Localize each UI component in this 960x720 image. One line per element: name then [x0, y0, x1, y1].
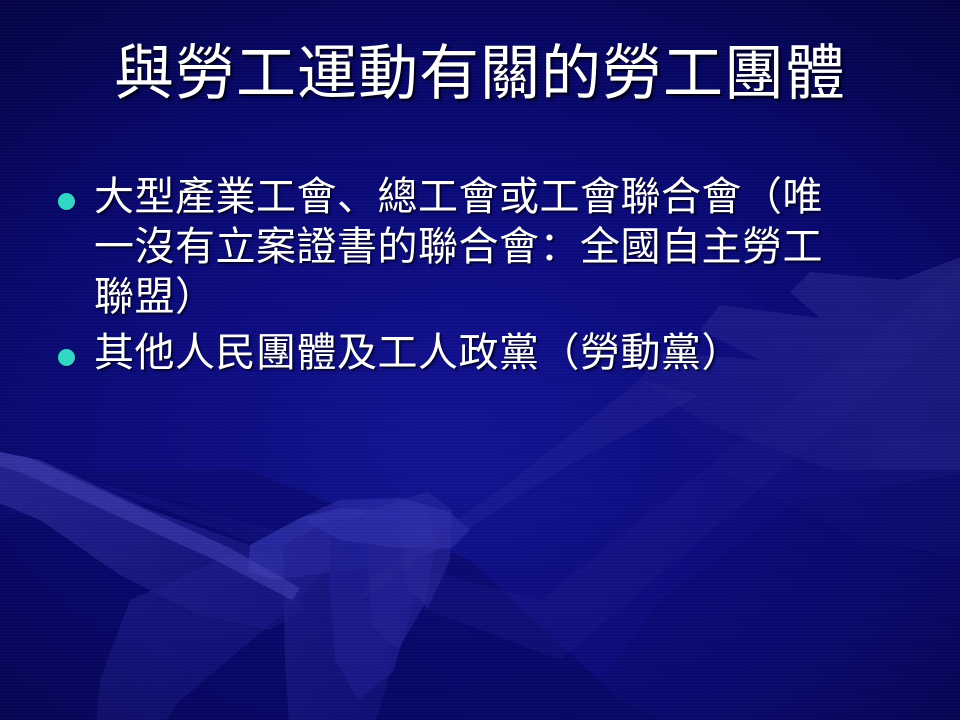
bullet-text: 其他人民團體及工人政黨（勞動黨） [94, 328, 926, 378]
slide-title: 與勞工運動有關的勞工團體 [0, 42, 960, 107]
slide-body: 大型產業工會、總工會或工會聯合會（唯 一沒有立案證書的聯合會：全國自主勞工 聯盟… [46, 172, 926, 384]
list-item: 大型產業工會、總工會或工會聯合會（唯 一沒有立案證書的聯合會：全國自主勞工 聯盟… [46, 172, 926, 322]
bullet-dot-icon [58, 349, 75, 366]
bullet-line: 大型產業工會、總工會或工會聯合會（唯 [94, 172, 926, 222]
bullet-line: 聯盟） [94, 272, 926, 322]
slide-content: 與勞工運動有關的勞工團體 大型產業工會、總工會或工會聯合會（唯 一沒有立案證書的… [0, 0, 960, 720]
bullet-dot-icon [58, 193, 75, 210]
bullet-line: 其他人民團體及工人政黨（勞動黨） [94, 328, 926, 378]
bullet-text: 大型產業工會、總工會或工會聯合會（唯 一沒有立案證書的聯合會：全國自主勞工 聯盟… [94, 172, 926, 322]
presentation-slide: 與勞工運動有關的勞工團體 大型產業工會、總工會或工會聯合會（唯 一沒有立案證書的… [0, 0, 960, 720]
list-item: 其他人民團體及工人政黨（勞動黨） [46, 328, 926, 378]
bullet-line: 一沒有立案證書的聯合會：全國自主勞工 [94, 222, 926, 272]
